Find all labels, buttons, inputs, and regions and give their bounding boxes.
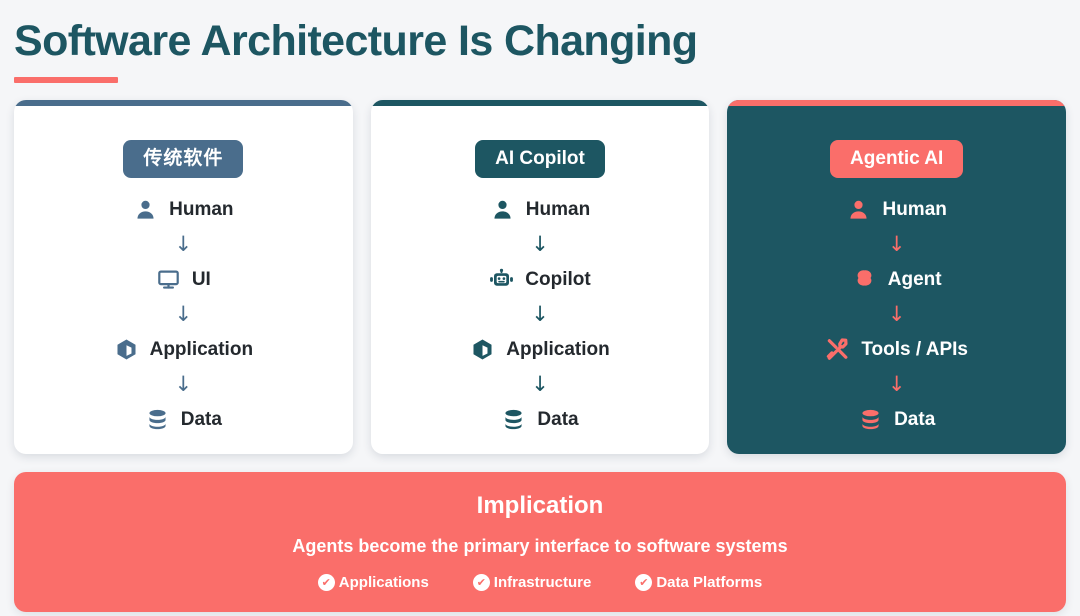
flow-step-human: Human [846, 195, 946, 225]
page-title: Software Architecture Is Changing [14, 16, 1066, 67]
flow-arrow: ↓ [175, 225, 193, 265]
card-accent-bar [14, 100, 353, 106]
flow-traditional: Human ↓ UI ↓ [114, 195, 253, 435]
flow-step-label: Tools / APIs [861, 340, 968, 359]
flow-step-label: Human [882, 200, 946, 219]
flow-step-tools: Tools / APIs [825, 335, 968, 365]
flow-arrow: ↓ [175, 295, 193, 335]
flow-step-label: UI [192, 270, 211, 289]
database-icon [145, 407, 170, 432]
flow-arrow: ↓ [888, 295, 906, 335]
flow-step-label: Human [169, 200, 233, 219]
card-accent-bar [371, 100, 710, 106]
title-underline-rule [14, 77, 118, 83]
implication-banner: Implication Agents become the primary in… [14, 472, 1066, 612]
chip-infrastructure: ✔ Infrastructure [473, 574, 592, 591]
flow-step-label: Data [537, 410, 578, 429]
check-circle-icon: ✔ [318, 574, 335, 591]
implication-title: Implication [477, 494, 604, 518]
check-circle-icon: ✔ [635, 574, 652, 591]
card-ai-copilot[interactable]: AI Copilot Human ↓ [371, 100, 710, 454]
card-traditional-software[interactable]: 传统软件 Human ↓ [14, 100, 353, 454]
flow-agentic: Human ↓ Agent ↓ [825, 195, 968, 435]
card-badge-agentic: Agentic AI [830, 140, 963, 178]
flow-step-data: Data [145, 405, 222, 435]
tools-icon [825, 337, 850, 362]
card-badge-traditional: 传统软件 [123, 140, 243, 178]
slide-root: Software Architecture Is Changing 传统软件 H… [0, 0, 1080, 616]
flow-step-label: Data [894, 410, 935, 429]
flow-step-human: Human [490, 195, 590, 225]
flow-step-data: Data [858, 405, 935, 435]
implication-subtitle: Agents become the primary interface to s… [292, 537, 787, 555]
flow-step-data: Data [501, 405, 578, 435]
flow-arrow: ↓ [175, 365, 193, 405]
cube-icon [470, 337, 495, 362]
person-icon [846, 197, 871, 222]
brain-icon [852, 267, 877, 292]
flow-step-label: Copilot [525, 270, 590, 289]
flow-step-application: Application [470, 335, 609, 365]
flow-copilot: Human ↓ [470, 195, 609, 435]
flow-step-label: Human [526, 200, 590, 219]
person-icon [490, 197, 515, 222]
slide-header: Software Architecture Is Changing [14, 0, 1066, 83]
card-accent-bar [727, 100, 1066, 106]
card-badge-copilot: AI Copilot [475, 140, 605, 178]
flow-step-ui: UI [156, 265, 211, 295]
chip-label: Infrastructure [494, 575, 592, 590]
flow-step-label: Agent [888, 270, 942, 289]
architecture-cards: 传统软件 Human ↓ [14, 100, 1066, 454]
check-circle-icon: ✔ [473, 574, 490, 591]
chip-data-platforms: ✔ Data Platforms [635, 574, 762, 591]
flow-arrow: ↓ [888, 225, 906, 265]
monitor-icon [156, 267, 181, 292]
database-icon [501, 407, 526, 432]
chip-label: Data Platforms [656, 575, 762, 590]
flow-arrow: ↓ [531, 295, 549, 335]
chip-label: Applications [339, 575, 429, 590]
robot-icon [489, 267, 514, 292]
flow-step-label: Application [150, 340, 253, 359]
flow-step-label: Application [506, 340, 609, 359]
flow-arrow: ↓ [531, 225, 549, 265]
flow-step-agent: Agent [852, 265, 942, 295]
flow-arrow: ↓ [531, 365, 549, 405]
flow-step-human: Human [133, 195, 233, 225]
implication-chips: ✔ Applications ✔ Infrastructure ✔ Data P… [318, 574, 762, 591]
flow-step-label: Data [181, 410, 222, 429]
database-icon [858, 407, 883, 432]
card-agentic-ai[interactable]: Agentic AI Human ↓ [727, 100, 1066, 454]
flow-step-application: Application [114, 335, 253, 365]
person-icon [133, 197, 158, 222]
cube-icon [114, 337, 139, 362]
flow-step-copilot: Copilot [489, 265, 590, 295]
flow-arrow: ↓ [888, 365, 906, 405]
chip-applications: ✔ Applications [318, 574, 429, 591]
